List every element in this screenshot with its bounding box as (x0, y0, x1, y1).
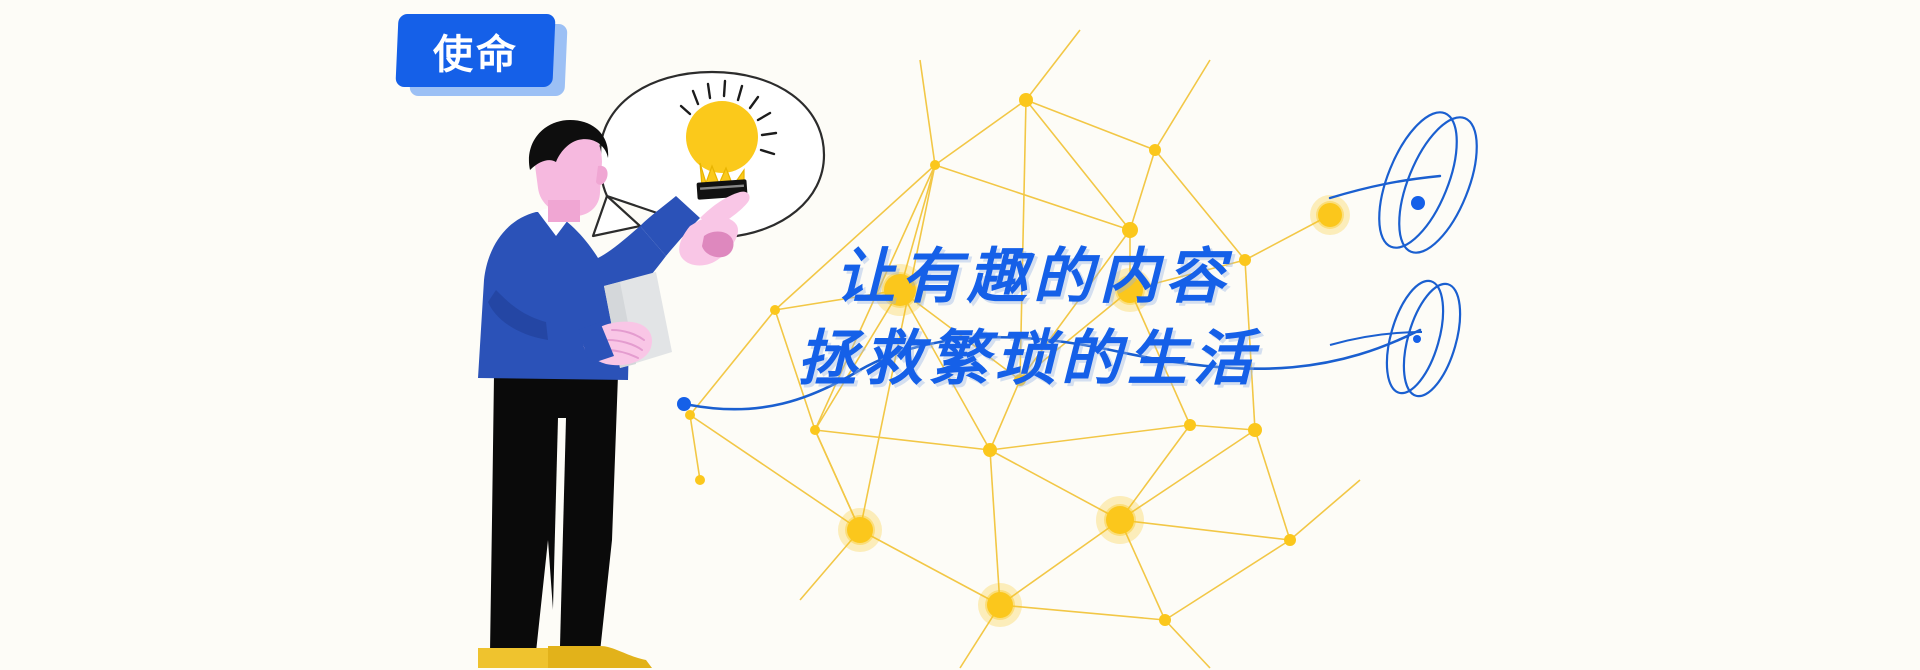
badge-label: 使命 (433, 22, 519, 80)
badge-block: 使命 (0, 0, 1920, 670)
mission-badge: 使命 (397, 10, 572, 102)
badge-plate: 使命 (395, 14, 555, 87)
mission-banner: 让有趣的内容 拯救繁琐的生活 使命 (0, 0, 1920, 670)
